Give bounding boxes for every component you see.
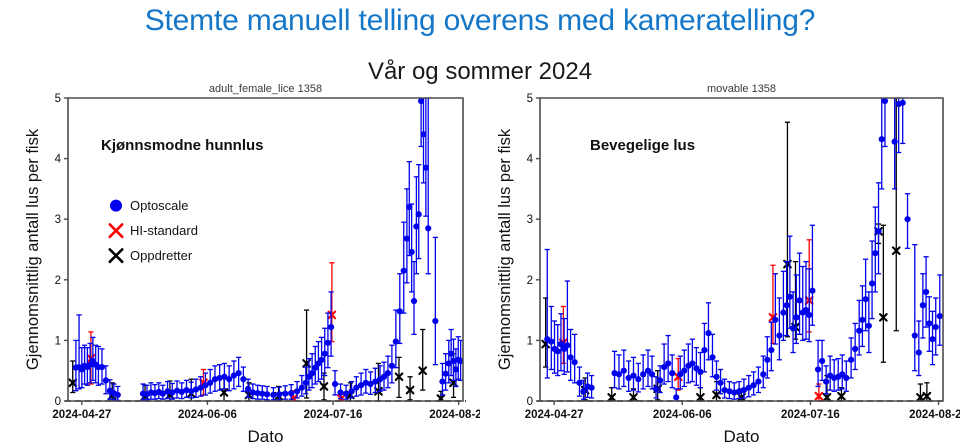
marker-circle	[681, 368, 687, 374]
marker-circle	[432, 318, 438, 324]
marker-circle	[588, 385, 594, 391]
x-tick-label: 2024-04-27	[52, 409, 111, 421]
marker-circle	[325, 340, 331, 346]
marker-circle	[299, 385, 305, 391]
y-tick-label: 0	[527, 396, 533, 408]
chart-legend: OptoscaleHI-standardOppdretter	[110, 198, 198, 263]
marker-circle	[443, 371, 449, 377]
marker-circle	[760, 371, 766, 377]
marker-circle	[926, 320, 932, 326]
marker-circle	[401, 268, 407, 274]
marker-circle	[780, 309, 786, 315]
y-tick-label: 4	[527, 154, 534, 166]
page-title: Stemte manuell telling overens med kamer…	[0, 4, 960, 38]
y-tick-label: 5	[55, 93, 61, 105]
marker-circle	[929, 336, 935, 342]
marker-circle	[309, 370, 315, 376]
marker-circle	[303, 380, 309, 386]
x-tick-label: 2024-06-06	[178, 409, 237, 421]
marker-circle	[900, 100, 906, 106]
marker-circle	[856, 328, 862, 334]
marker-circle	[115, 392, 121, 398]
marker-circle	[580, 388, 586, 394]
x-tick-label: 2024-07-16	[781, 409, 840, 421]
marker-circle	[823, 379, 829, 385]
y-axis-label: Gjennomsnittlig antall lus per fisk	[24, 128, 42, 370]
marker-circle	[409, 249, 415, 255]
legend-label: Optoscale	[130, 198, 189, 213]
marker-circle	[796, 297, 802, 303]
legend-label: HI-standard	[130, 223, 198, 238]
marker-circle	[337, 389, 343, 395]
marker-circle	[933, 324, 939, 330]
chart-panel-movable: movable 13580123452024-04-272024-06-0620…	[480, 80, 960, 442]
marker-circle	[701, 347, 707, 353]
marker-circle	[923, 289, 929, 295]
marker-circle	[572, 359, 578, 365]
marker-circle	[385, 370, 391, 376]
marker-circle	[705, 330, 711, 336]
marker-circle	[332, 381, 338, 387]
chart-subplot-title: adult_female_lice 1358	[209, 83, 322, 95]
marker-circle	[882, 98, 888, 104]
marker-circle	[99, 364, 105, 370]
marker-circle	[790, 325, 796, 331]
marker-circle	[709, 354, 715, 360]
y-tick-label: 3	[55, 214, 61, 226]
x-tick-label: 2024-04-27	[525, 409, 584, 421]
marker-circle	[657, 377, 663, 383]
marker-circle	[815, 366, 821, 372]
marker-circle	[879, 136, 885, 142]
marker-circle	[416, 211, 422, 217]
marker-circle	[892, 139, 898, 145]
y-tick-label: 1	[55, 335, 61, 347]
marker-circle	[288, 390, 294, 396]
chart-svg-right: movable 13580123452024-04-272024-06-0620…	[480, 80, 960, 442]
slide-root: Stemte manuell telling overens med kamer…	[0, 0, 960, 442]
marker-circle	[784, 302, 790, 308]
marker-circle	[689, 360, 695, 366]
marker-circle	[863, 296, 869, 302]
marker-circle	[787, 294, 793, 300]
marker-circle	[276, 391, 282, 397]
marker-circle	[852, 346, 858, 352]
marker-circle	[764, 357, 770, 363]
chart-panel-adult-female-lice: adult_female_lice 13580123452024-04-2720…	[0, 80, 480, 442]
marker-circle	[282, 391, 288, 397]
marker-circle	[904, 216, 910, 222]
marker-circle	[673, 394, 679, 400]
y-tick-label: 1	[527, 335, 533, 347]
marker-circle	[568, 354, 574, 360]
marker-circle	[912, 332, 918, 338]
marker-circle	[819, 358, 825, 364]
marker-circle	[665, 360, 671, 366]
y-tick-label: 2	[527, 275, 533, 287]
x-axis-label: Dato	[724, 427, 760, 442]
y-tick-label: 2	[55, 275, 61, 287]
marker-circle	[669, 370, 675, 376]
marker-circle	[937, 313, 943, 319]
marker-circle	[920, 302, 926, 308]
marker-circle	[425, 225, 431, 231]
x-tick-label: 2024-08-25	[429, 409, 480, 421]
marker-circle	[328, 324, 334, 330]
marker-circle	[776, 332, 782, 338]
chart-svg-left: adult_female_lice 13580123452024-04-2720…	[0, 80, 480, 442]
marker-circle	[768, 347, 774, 353]
marker-circle	[916, 349, 922, 355]
marker-circle	[564, 342, 570, 348]
marker-circle	[859, 317, 865, 323]
legend-label: Oppdretter	[130, 248, 193, 263]
marker-circle	[555, 348, 561, 354]
marker-circle	[793, 314, 799, 320]
marker-circle	[866, 323, 872, 329]
series-oppdretter	[69, 310, 456, 402]
y-tick-label: 4	[55, 154, 62, 166]
x-tick-label: 2024-06-06	[653, 409, 712, 421]
marker-circle	[653, 386, 659, 392]
marker-circle	[343, 391, 349, 397]
marker-circle	[872, 250, 878, 256]
chart-subplot-title: movable 1358	[707, 83, 776, 95]
marker-circle	[236, 370, 242, 376]
marker-circle	[411, 298, 417, 304]
marker-circle	[848, 357, 854, 363]
y-tick-label: 5	[527, 93, 533, 105]
marker-circle	[843, 375, 849, 381]
marker-circle	[717, 380, 723, 386]
marker-circle	[439, 379, 445, 385]
marker-circle	[318, 357, 324, 363]
marker-circle	[806, 312, 812, 318]
marker-circle	[809, 288, 815, 294]
x-axis-label: Dato	[248, 427, 284, 442]
marker-circle	[270, 392, 276, 398]
marker-circle	[875, 228, 881, 234]
y-tick-label: 3	[527, 214, 533, 226]
x-tick-label: 2024-07-16	[304, 409, 363, 421]
y-tick-label: 0	[55, 396, 61, 408]
marker-circle	[322, 351, 328, 357]
marker-circle	[713, 374, 719, 380]
panel-annotation: Kjønnsmodne hunnlus	[101, 137, 264, 154]
y-axis-label: Gjennomsnittlig antall lus per fisk	[496, 128, 514, 370]
marker-circle	[635, 376, 641, 382]
marker-circle	[264, 391, 270, 397]
panel-annotation: Bevegelige lus	[590, 137, 695, 154]
x-tick-label: 2024-08-25	[909, 409, 960, 421]
legend-marker-optoscale	[110, 200, 122, 212]
marker-circle	[621, 368, 627, 374]
marker-circle	[772, 317, 778, 323]
marker-circle	[755, 379, 761, 385]
marker-circle	[548, 339, 554, 345]
marker-circle	[869, 280, 875, 286]
